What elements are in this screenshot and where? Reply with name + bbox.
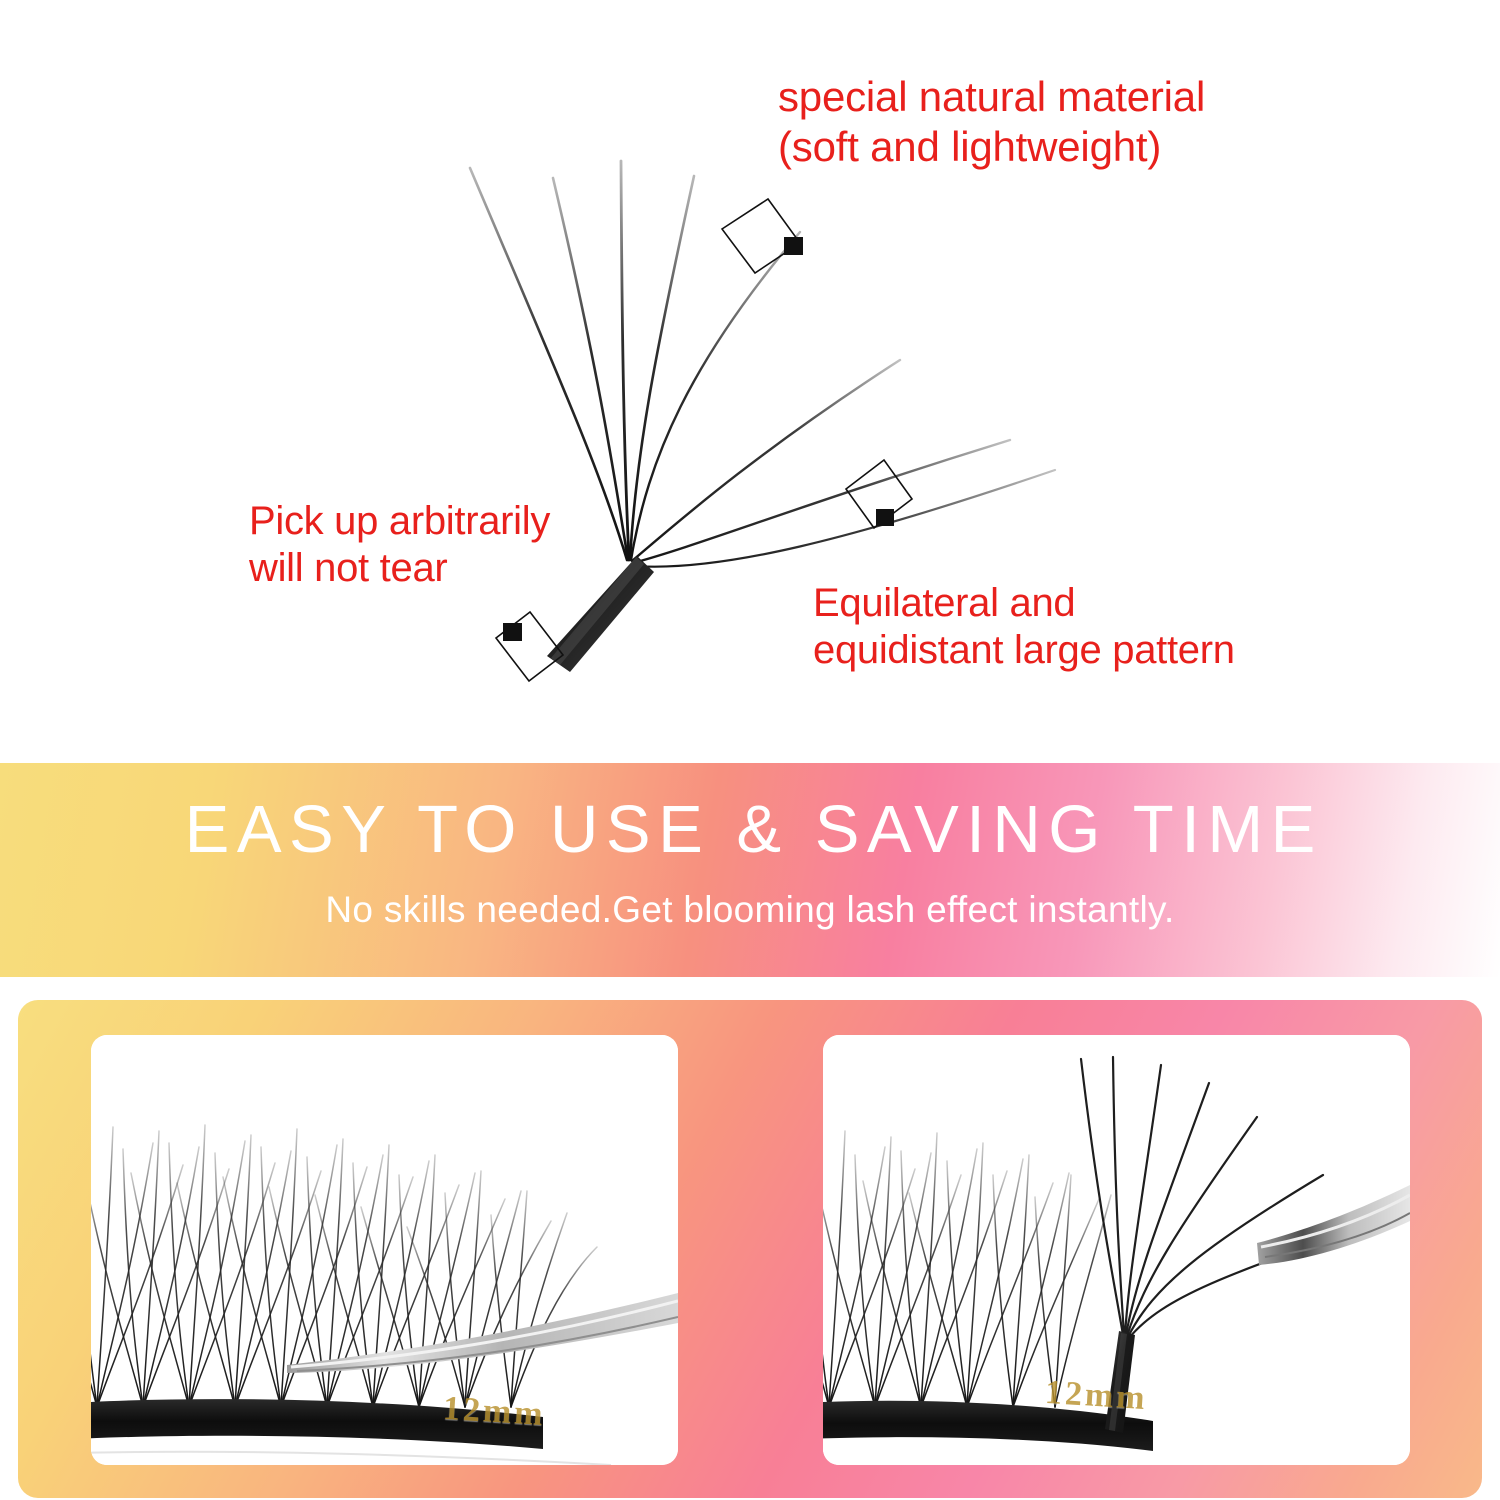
annotation-marker-base [496, 612, 563, 681]
size-label-12mm-right: 12mm [1044, 1374, 1149, 1418]
lash-strands-lower [632, 360, 1055, 567]
annotation-marker-right [846, 460, 912, 528]
headline-banner: EASY TO USE & SAVING TIME No skills need… [0, 763, 1500, 977]
callout-pick-up: Pick up arbitrarily will not tear [249, 498, 550, 592]
lash-tray-photo [91, 1035, 678, 1465]
banner-title: EASY TO USE & SAVING TIME [0, 796, 1500, 863]
lash-fan-diagram [0, 0, 1500, 763]
photo-card-lash-tray: 12mm [91, 1035, 678, 1465]
banner-subtitle: No skills needed.Get blooming lash effec… [0, 891, 1500, 928]
feature-diagram-section: special natural material (soft and light… [0, 0, 1500, 763]
callout-equilateral: Equilateral and equidistant large patter… [813, 580, 1235, 674]
size-label-12mm-left: 12mm [442, 1390, 547, 1434]
callout-special-material: special natural material (soft and light… [778, 72, 1205, 171]
photo-gallery-panel: 12mm [18, 1000, 1482, 1498]
photo-card-lash-fan: 12mm [823, 1035, 1410, 1465]
annotation-marker-top [722, 199, 803, 273]
